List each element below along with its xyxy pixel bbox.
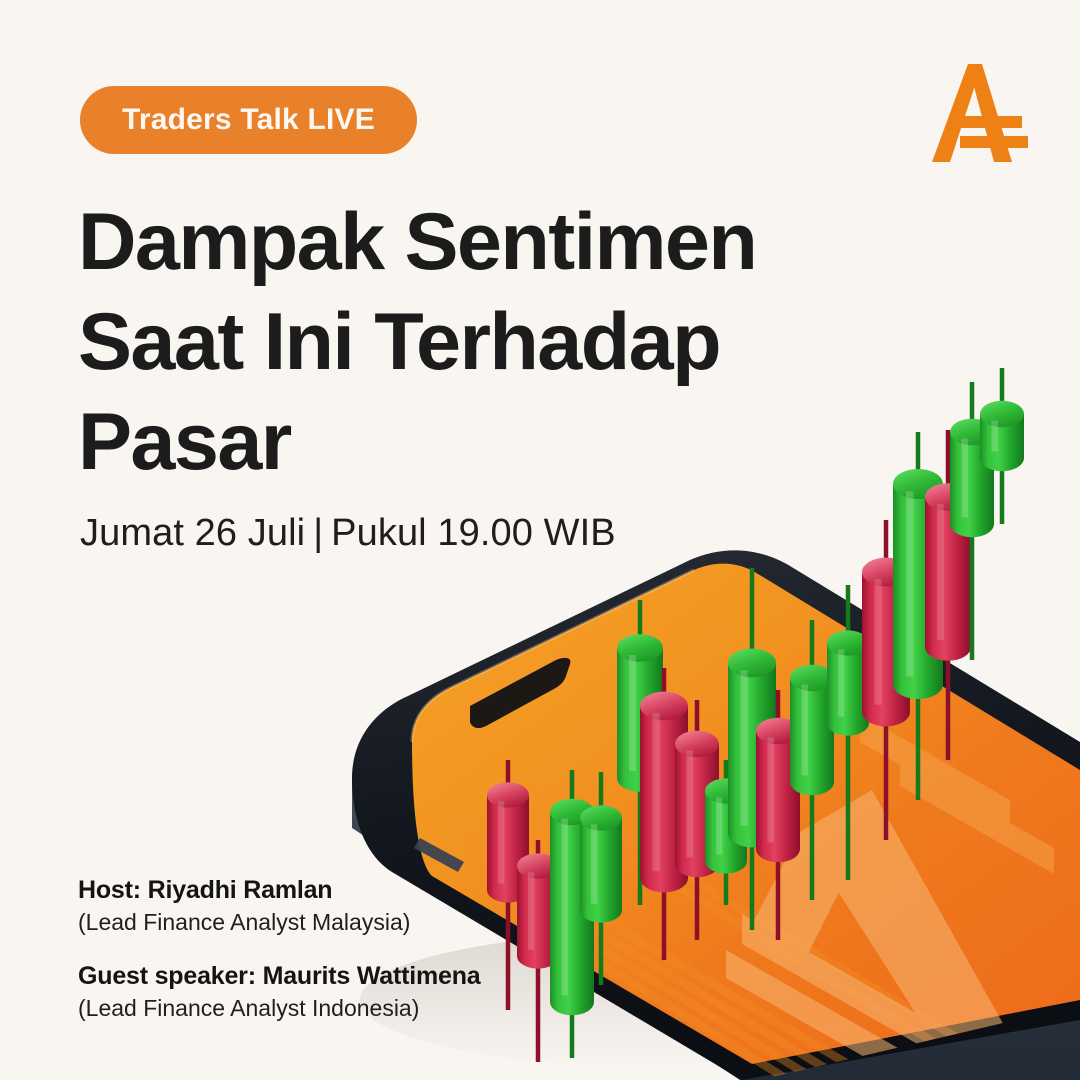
headline-line-2: Saat Ini Terhadap (78, 292, 838, 392)
schedule-separator: | (305, 512, 331, 554)
credit-host: Host: Riyadhi Ramlan (Lead Finance Analy… (78, 876, 481, 936)
traders-talk-live-badge[interactable]: Traders Talk LIVE (80, 86, 417, 154)
credit-guest: Guest speaker: Maurits Wattimena (Lead F… (78, 962, 481, 1022)
schedule-line: Jumat 26 Juli|Pukul 19.00 WIB (80, 512, 616, 555)
host-role: (Lead Finance Analyst Malaysia) (78, 909, 481, 936)
schedule-time: Pukul 19.00 WIB (331, 512, 616, 554)
brand-a-logo (924, 58, 1032, 168)
headline-line-1: Dampak Sentimen (78, 192, 838, 292)
page-title: Dampak Sentimen Saat Ini Terhadap Pasar (78, 192, 838, 492)
schedule-day: Jumat 26 Juli (80, 512, 305, 554)
credits-block: Host: Riyadhi Ramlan (Lead Finance Analy… (78, 876, 481, 1022)
poster-canvas: Traders Talk LIVE Dampak Sentimen Saat I… (0, 0, 1080, 1080)
headline-line-3: Pasar (78, 392, 838, 492)
badge-label: Traders Talk LIVE (122, 103, 375, 137)
host-name: Host: Riyadhi Ramlan (78, 876, 481, 905)
guest-role: (Lead Finance Analyst Indonesia) (78, 995, 481, 1022)
guest-name: Guest speaker: Maurits Wattimena (78, 962, 481, 991)
